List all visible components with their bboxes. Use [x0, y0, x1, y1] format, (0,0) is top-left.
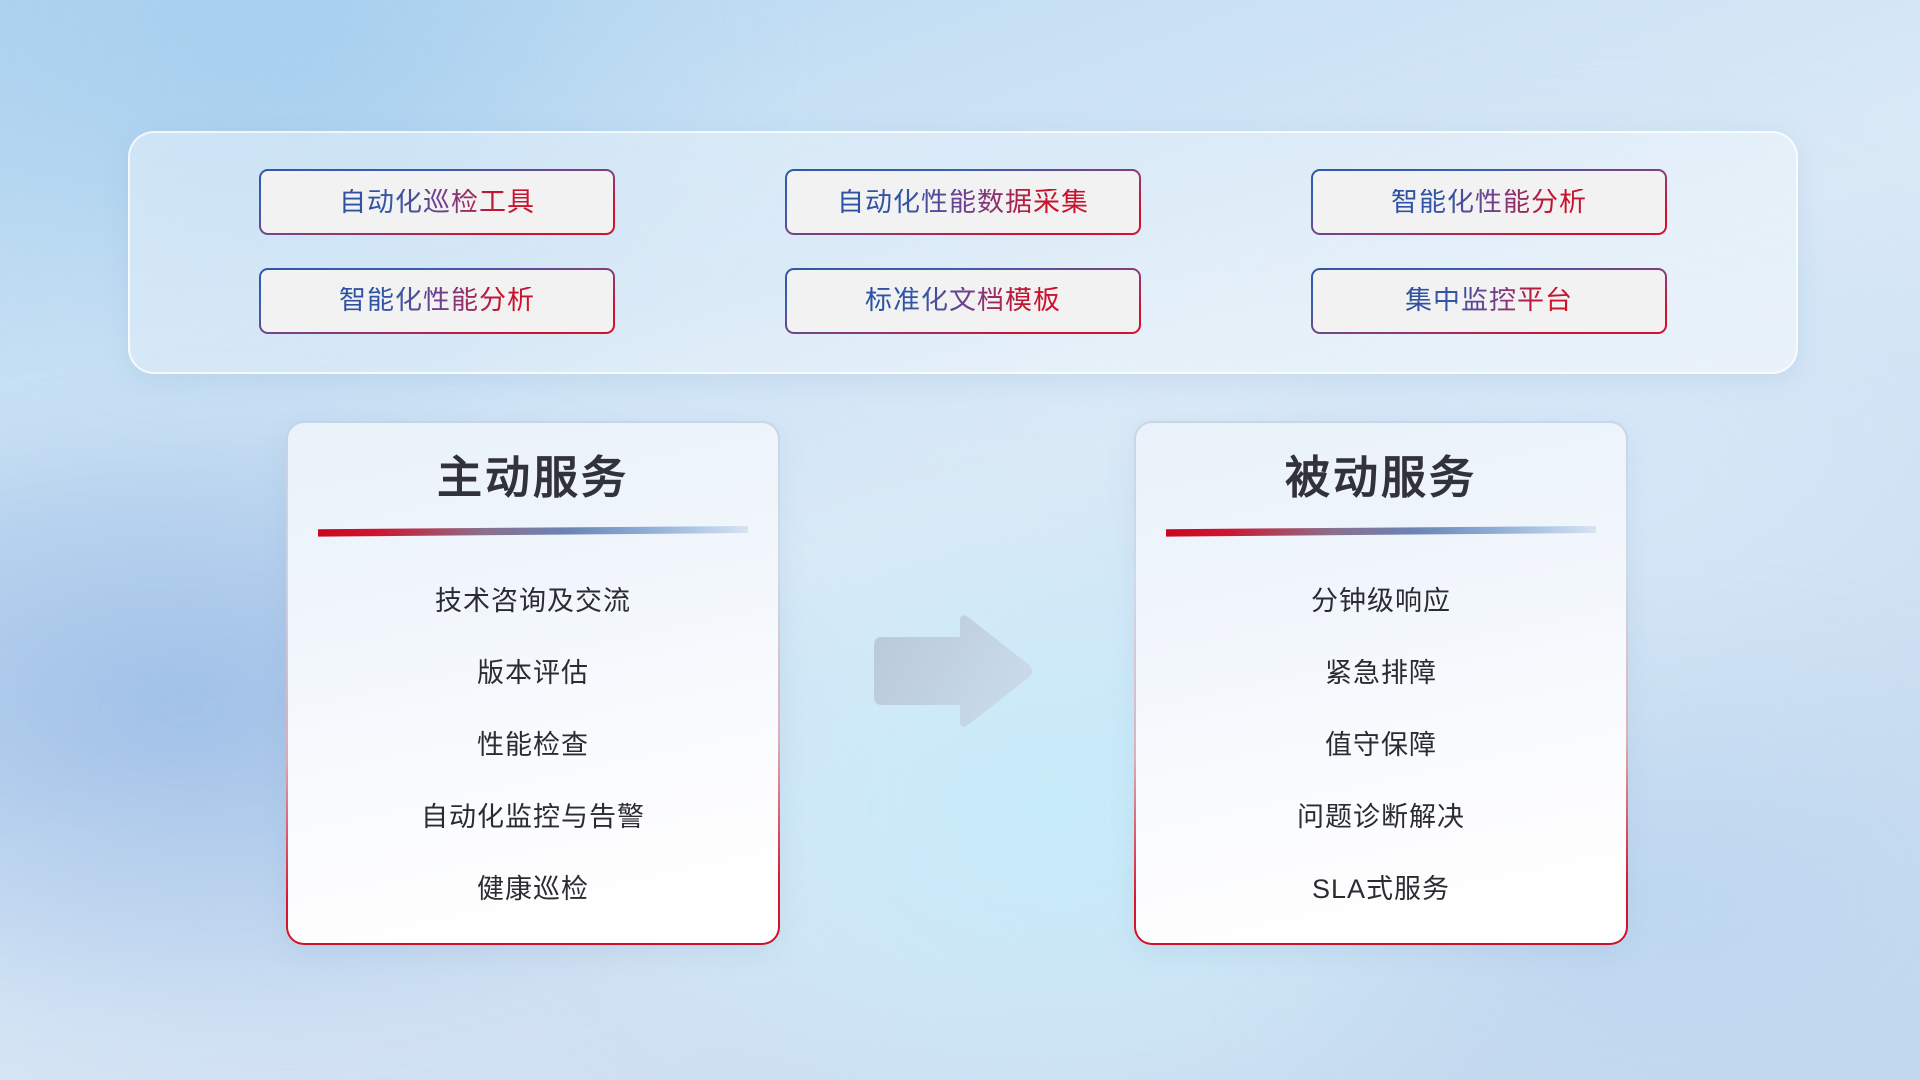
- infographic-stage: 自动化巡检工具 自动化性能数据采集 智能化性能分析 智能化性能分析 标准化文档模…: [0, 0, 1920, 1080]
- capability-pill[interactable]: 自动化性能数据采集: [785, 169, 1141, 235]
- capability-pill-label: 标准化文档模板: [865, 287, 1061, 314]
- title-divider: [1166, 526, 1596, 537]
- title-divider: [318, 526, 748, 537]
- service-card-reactive: 被动服务 分钟级响应 紧急排障 值守保障: [1134, 421, 1628, 945]
- service-list-item[interactable]: SLA式服务: [1312, 853, 1450, 925]
- capability-pill-label: 智能化性能分析: [1391, 189, 1587, 216]
- capability-pill[interactable]: 集中监控平台: [1311, 268, 1667, 334]
- service-list-item[interactable]: 自动化监控与告警: [421, 781, 645, 853]
- service-list-item[interactable]: 问题诊断解决: [1297, 781, 1465, 853]
- service-item-list: 分钟级响应 紧急排障 值守保障 问题诊断解决 SLA式服务: [1136, 565, 1626, 925]
- service-card-title: 主动服务: [437, 451, 629, 504]
- capability-pill-label: 集中监控平台: [1405, 287, 1573, 314]
- capability-pill[interactable]: 标准化文档模板: [785, 268, 1141, 334]
- service-item-list: 技术咨询及交流 版本评估 性能检查 自动化监控与告警 健康巡检: [288, 565, 778, 925]
- service-card-title: 被动服务: [1285, 451, 1477, 504]
- capability-pill[interactable]: 智能化性能分析: [1311, 169, 1667, 235]
- service-list-item[interactable]: 健康巡检: [477, 853, 589, 925]
- service-list-item[interactable]: 值守保障: [1325, 709, 1437, 781]
- capability-pill-label: 自动化巡检工具: [339, 189, 535, 216]
- service-list-item[interactable]: 分钟级响应: [1311, 565, 1451, 637]
- capability-pill-label: 自动化性能数据采集: [837, 189, 1089, 216]
- capability-pill[interactable]: 智能化性能分析: [259, 268, 615, 334]
- service-list-item[interactable]: 版本评估: [477, 637, 589, 709]
- service-list-item[interactable]: 技术咨询及交流: [435, 565, 631, 637]
- capability-pill-label: 智能化性能分析: [339, 287, 535, 314]
- service-card-proactive: 主动服务 技术咨询及交流 版本评估 性能检查: [286, 421, 780, 945]
- capability-pill[interactable]: 自动化巡检工具: [259, 169, 615, 235]
- arrow-right-icon: [868, 612, 1036, 732]
- capability-panel: 自动化巡检工具 自动化性能数据采集 智能化性能分析 智能化性能分析 标准化文档模…: [128, 131, 1798, 374]
- service-list-item[interactable]: 性能检查: [477, 709, 589, 781]
- service-list-item[interactable]: 紧急排障: [1325, 637, 1437, 709]
